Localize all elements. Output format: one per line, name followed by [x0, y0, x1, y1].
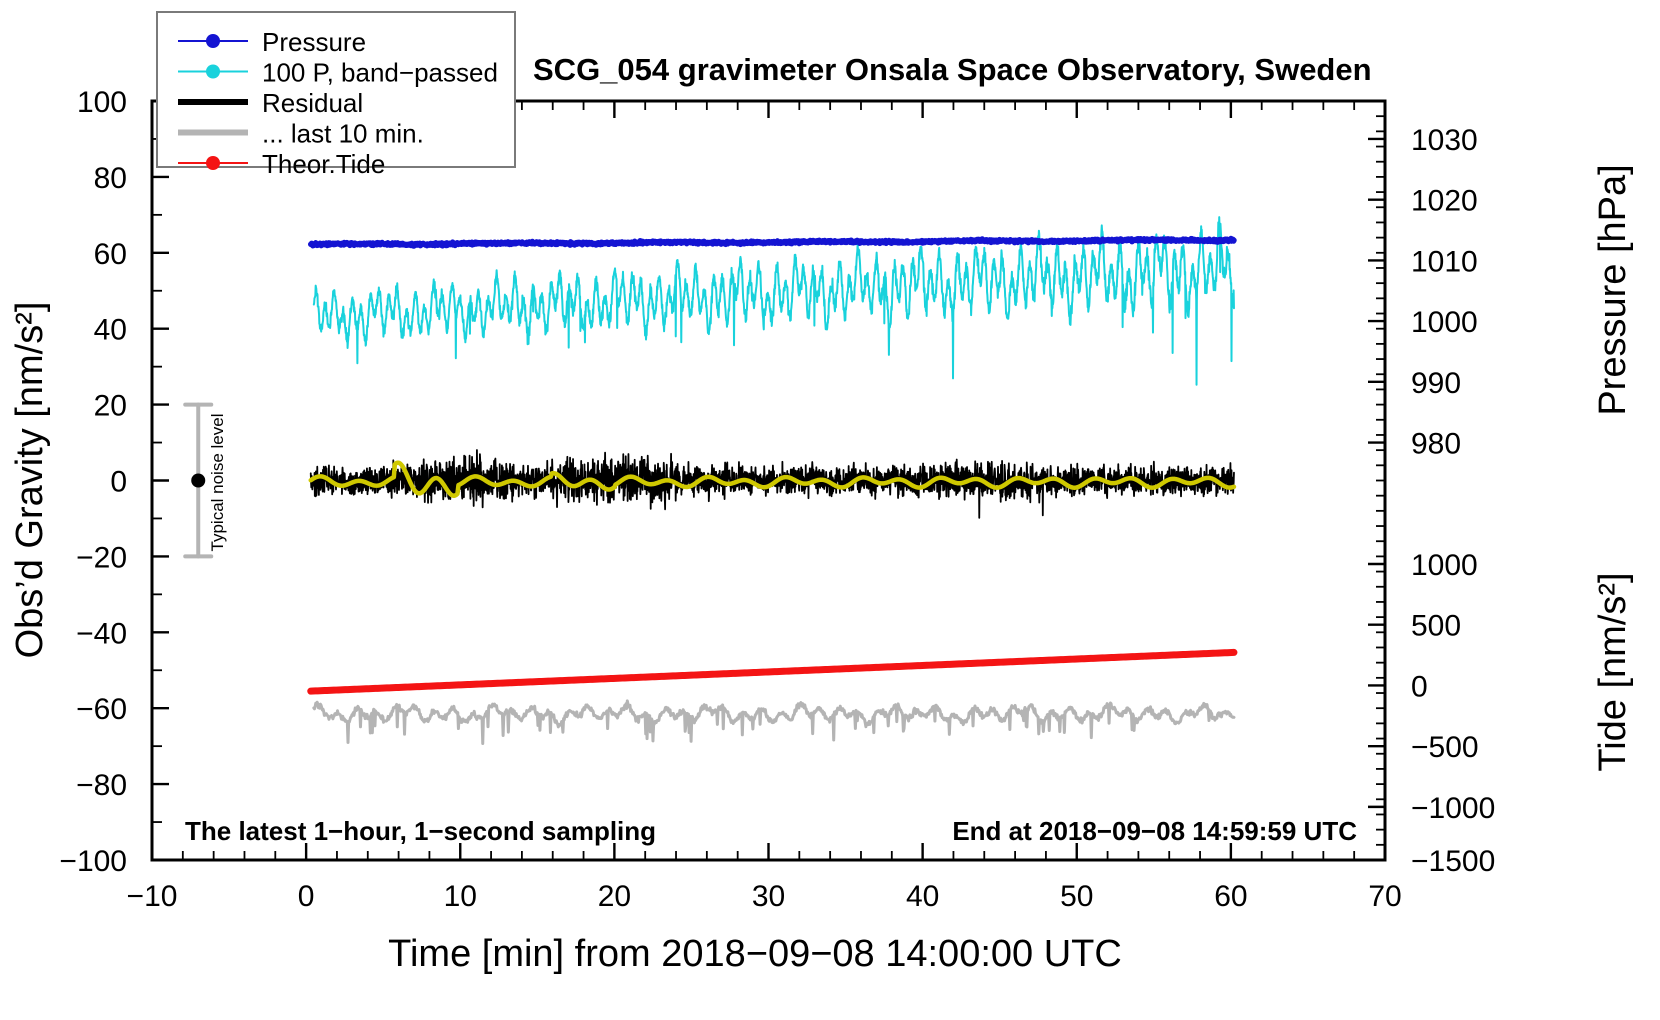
- right-pressure-axis-title: Pressure [hPa]: [1592, 164, 1634, 415]
- bottom-right-note: End at 2018−09−08 14:59:59 UTC: [952, 816, 1357, 846]
- figure-root: 100806040200−20−40−60−80−100 −1001020304…: [0, 0, 1660, 1020]
- legend-marker-icon: [206, 65, 220, 79]
- bottom-axis-title: Time [min] from 2018−09−08 14:00:00 UTC: [388, 933, 1122, 975]
- left-tick-label: −20: [76, 541, 127, 574]
- bottom-tick-label: 60: [1214, 880, 1247, 913]
- right-pressure-tick-label: 1000: [1411, 306, 1478, 339]
- noise-level-label: Typical noise level: [208, 414, 227, 552]
- right-pressure-tick-label: 1030: [1411, 124, 1478, 157]
- noise-center-dot: [191, 474, 205, 488]
- legend-marker-icon: [206, 34, 220, 48]
- bottom-tick-label: 0: [298, 880, 315, 913]
- bottom-tick-label: 30: [752, 880, 785, 913]
- bottom-tick-label: 70: [1368, 880, 1401, 913]
- bottom-tick-label: −10: [127, 880, 178, 913]
- right-pressure-tick-label: 990: [1411, 367, 1461, 400]
- bottom-tick-label: 20: [598, 880, 631, 913]
- bottom-tick-label: 50: [1060, 880, 1093, 913]
- left-tick-label: 100: [77, 86, 127, 119]
- left-tick-label: 40: [94, 314, 127, 347]
- left-tick-label: 20: [94, 390, 127, 423]
- left-axis-title: Obs’d Gravity [nm/s²]: [9, 302, 51, 659]
- right-tide-tick-label: 0: [1411, 670, 1428, 703]
- left-tick-label: −60: [76, 693, 127, 726]
- legend-marker-icon: [206, 156, 220, 170]
- left-tick-label: −80: [76, 769, 127, 802]
- right-tide-axis-title: Tide [nm/s²]: [1592, 572, 1634, 771]
- left-tick-label: 60: [94, 238, 127, 271]
- legend: Pressure100 P, band−passedResidual... la…: [157, 12, 515, 179]
- legend-label: Pressure: [262, 27, 366, 57]
- right-tide-tick-label: −500: [1411, 731, 1479, 764]
- left-tick-label: −100: [59, 845, 127, 878]
- left-tick-label: 0: [110, 466, 127, 499]
- page-title: SCG_054 gravimeter Onsala Space Observat…: [533, 52, 1372, 87]
- right-tide-tick-label: −1500: [1411, 845, 1495, 878]
- gravimeter-chart: 100806040200−20−40−60−80−100 −1001020304…: [0, 0, 1660, 1020]
- right-pressure-tick-label: 980: [1411, 428, 1461, 461]
- bottom-left-note: The latest 1−hour, 1−second sampling: [185, 816, 656, 846]
- left-tick-label: −40: [76, 617, 127, 650]
- left-tick-label: 80: [94, 162, 127, 195]
- bottom-tick-label: 40: [906, 880, 939, 913]
- right-tide-tick-label: 500: [1411, 610, 1461, 643]
- bottom-tick-label: 10: [444, 880, 477, 913]
- legend-label: ... last 10 min.: [262, 119, 424, 149]
- legend-label: Residual: [262, 88, 363, 118]
- right-tide-tick-label: 1000: [1411, 549, 1478, 582]
- legend-label: Theor.Tide: [262, 149, 385, 179]
- right-pressure-tick-label: 1020: [1411, 185, 1478, 218]
- right-tide-tick-label: −1000: [1411, 792, 1495, 825]
- right-pressure-tick-label: 1010: [1411, 245, 1478, 278]
- legend-label: 100 P, band−passed: [262, 58, 498, 88]
